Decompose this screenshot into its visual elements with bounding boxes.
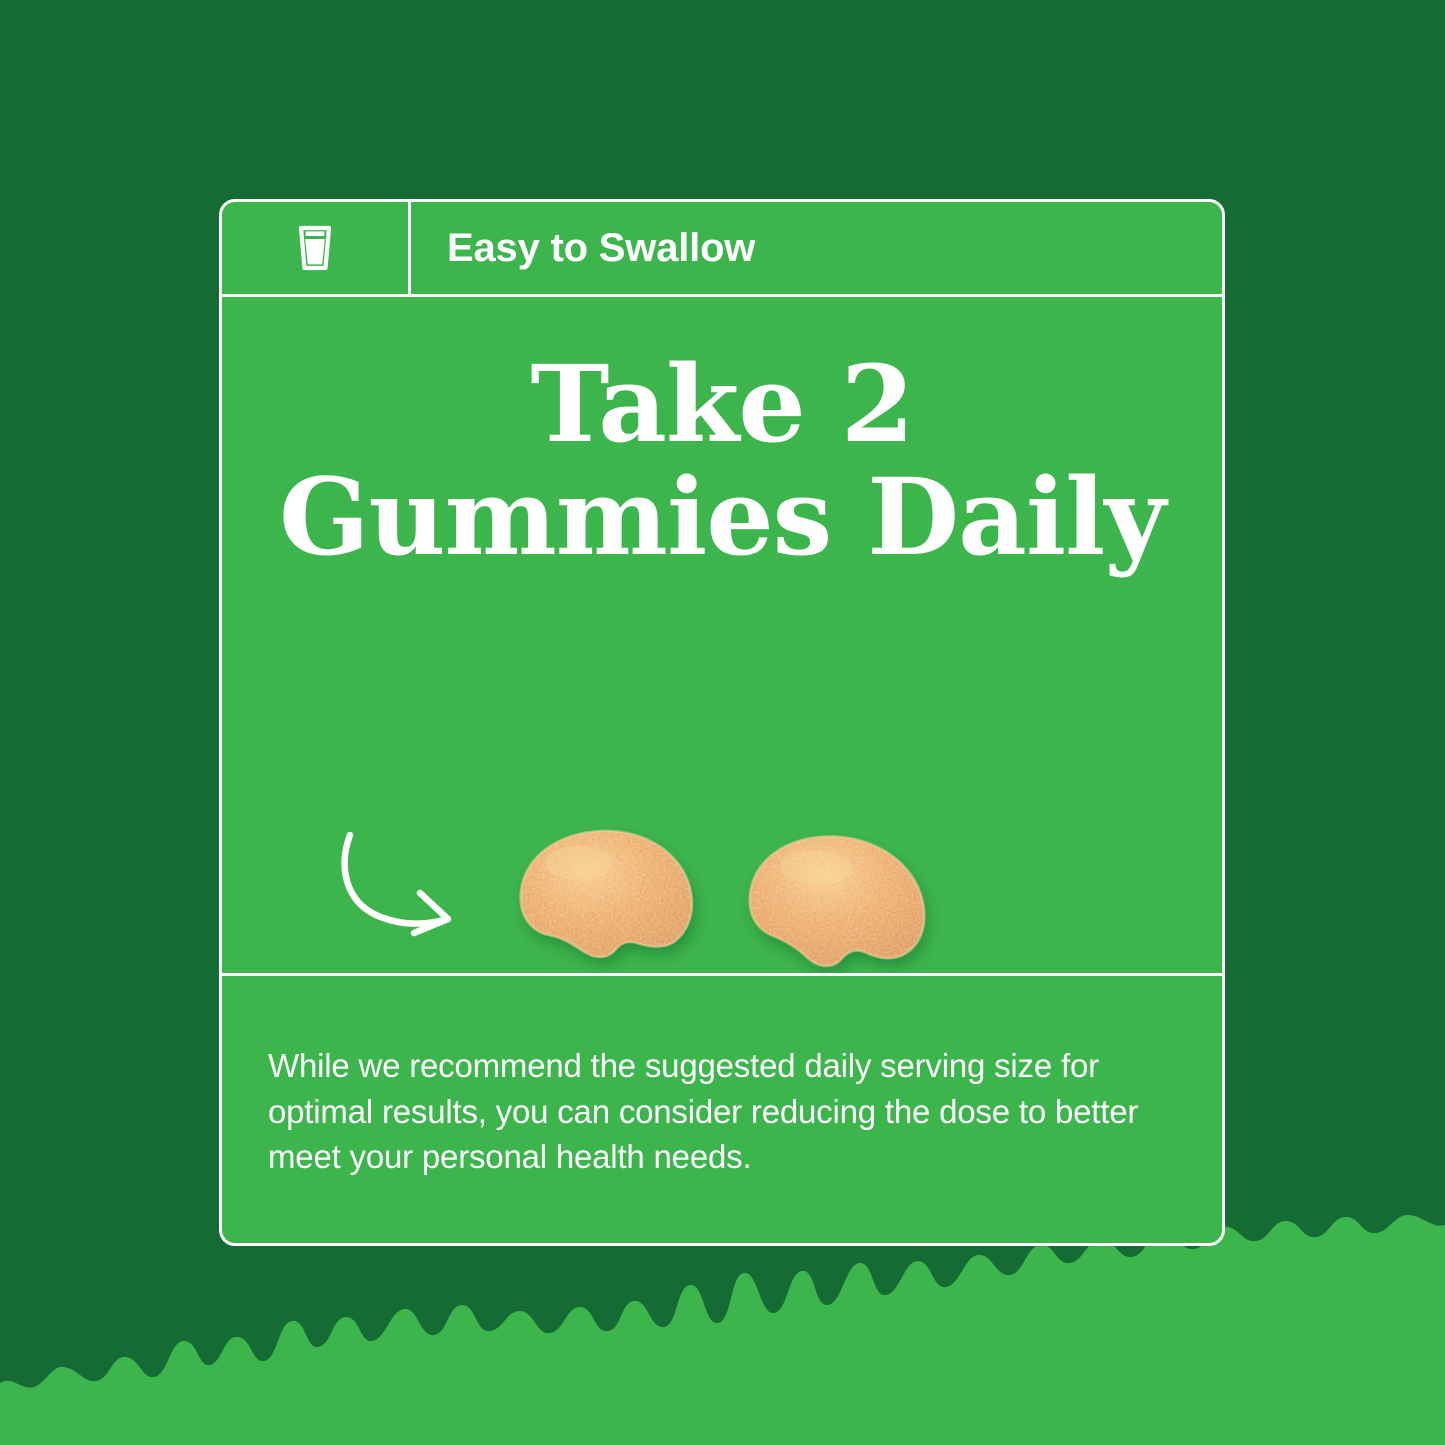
feature-card: Easy to Swallow Take 2 Gummies Daily [219,199,1225,1246]
header-title-cell: Easy to Swallow [411,202,1222,294]
footnote-text: While we recommend the suggested daily s… [268,1043,1176,1180]
headline: Take 2 Gummies Daily [222,347,1222,574]
card-header: Easy to Swallow [222,202,1222,297]
headline-line-2: Gummies Daily [242,460,1202,573]
card-body: Take 2 Gummies Daily [222,297,1222,976]
card-footer: While we recommend the suggested daily s… [222,976,1222,1243]
card-title: Easy to Swallow [447,228,755,268]
headline-line-1: Take 2 [242,347,1202,460]
gummy-2 [736,820,944,977]
curved-arrow-right-icon [332,825,472,945]
header-icon-cell [222,202,411,294]
dose-illustration [222,807,1222,976]
promo-graphic: Easy to Swallow Take 2 Gummies Daily [0,0,1445,1445]
drinking-glass-icon [298,225,332,271]
gummy-1 [509,817,709,976]
torn-paper-band [0,1215,1445,1445]
